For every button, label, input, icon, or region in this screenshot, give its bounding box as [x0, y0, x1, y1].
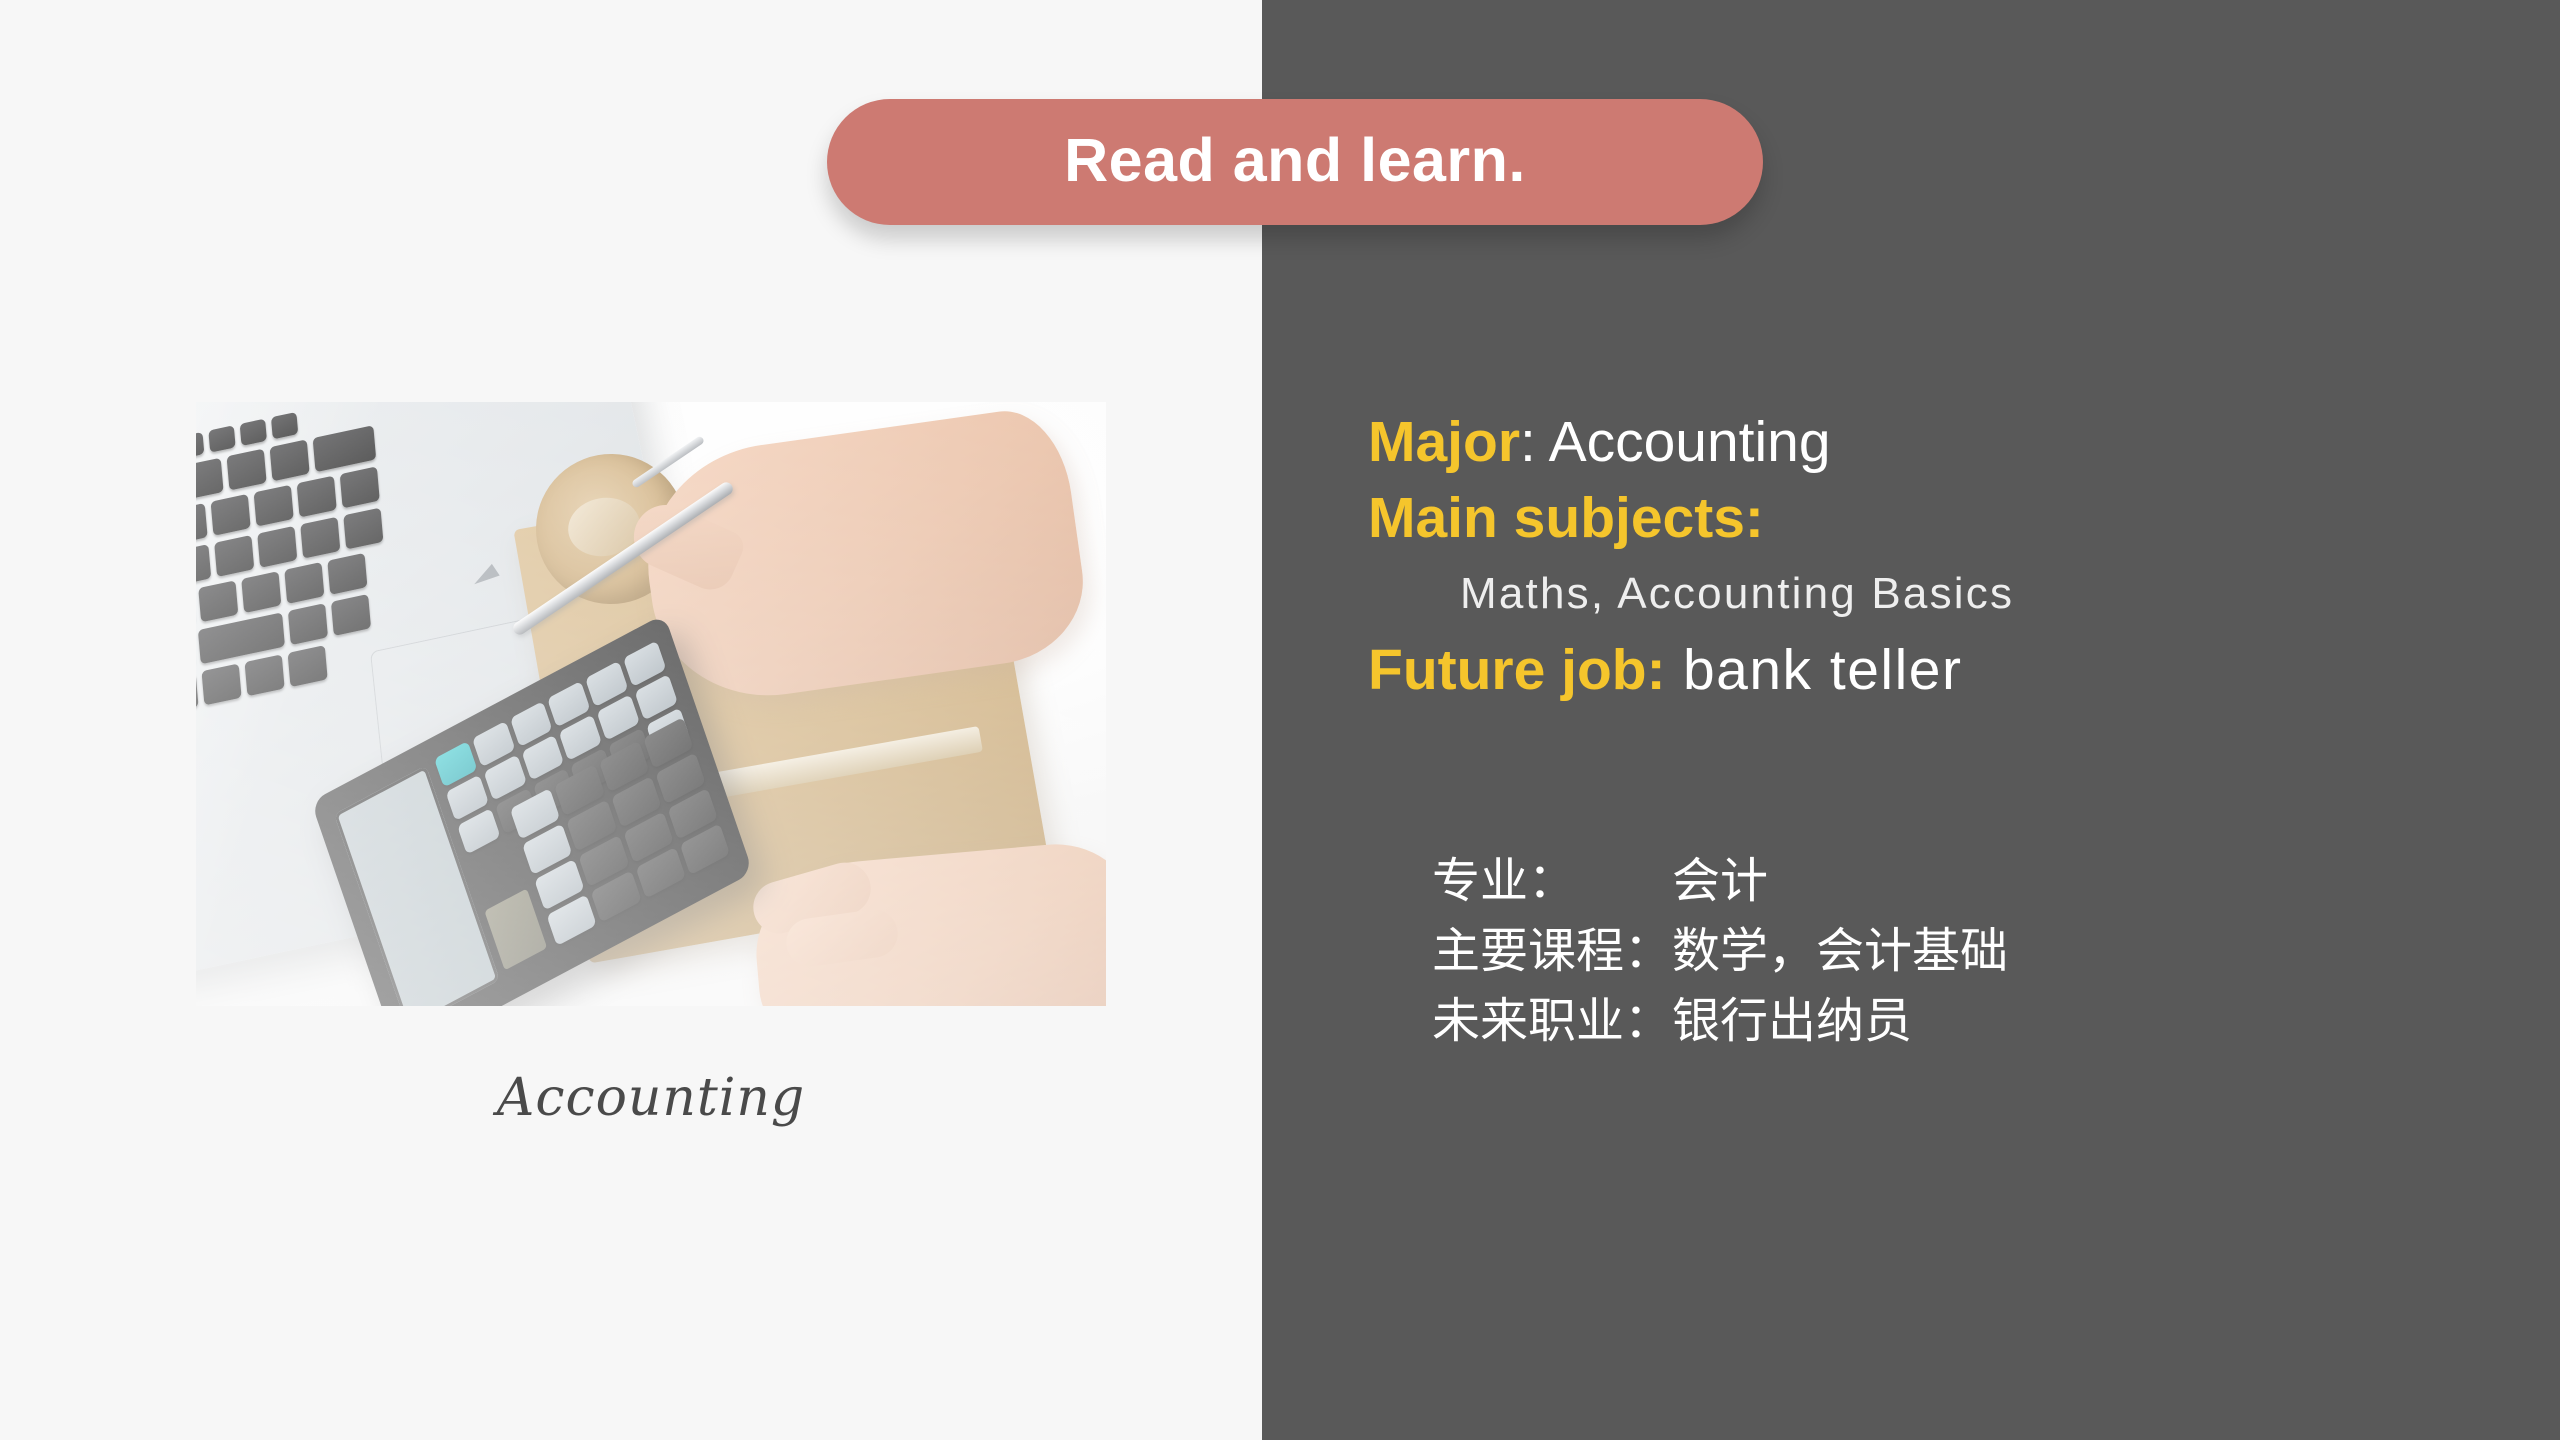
- slide-title: Read and learn.: [1064, 130, 1526, 195]
- zh-job-value: 银行出纳员: [1672, 993, 1912, 1049]
- title-banner: Read and learn.: [827, 99, 1763, 225]
- major-line: Major: Accounting: [1368, 404, 2488, 480]
- job-label: Future job:: [1368, 638, 1666, 702]
- zh-job-label: 未来职业：: [1432, 986, 1672, 1056]
- major-value: Accounting: [1549, 410, 1831, 474]
- zh-subjects-label: 主要课程：: [1432, 916, 1672, 986]
- subjects-value: Maths, Accounting Basics: [1460, 569, 2014, 618]
- english-info-block: Major: Accounting Main subjects: Maths, …: [1368, 404, 2488, 708]
- zh-major-line: 专业：会计: [1432, 846, 2482, 916]
- zh-subjects-line: 主要课程：数学，会计基础: [1432, 916, 2482, 986]
- subjects-value-line: Maths, Accounting Basics: [1368, 556, 2488, 632]
- major-label: Major: [1368, 410, 1520, 474]
- photo-caption: Accounting: [196, 1068, 1106, 1128]
- photo-accounting: [196, 402, 1106, 1006]
- zh-major-label: 专业：: [1432, 846, 1576, 916]
- major-separator: :: [1520, 410, 1549, 474]
- zh-subjects-value: 数学，会计基础: [1672, 923, 2008, 979]
- photo-canvas: [196, 402, 1106, 1006]
- job-value: bank teller: [1666, 638, 1963, 702]
- zh-major-value: 会计: [1672, 853, 1768, 909]
- subjects-line: Main subjects:: [1368, 480, 2488, 556]
- subjects-label: Main subjects:: [1368, 486, 1764, 550]
- slide: Read and learn.: [0, 0, 2560, 1440]
- chinese-info-block: 专业：会计 主要课程：数学，会计基础 未来职业：银行出纳员: [1432, 846, 2482, 1056]
- zh-job-line: 未来职业：银行出纳员: [1432, 986, 2482, 1056]
- job-line: Future job: bank teller: [1368, 632, 2488, 708]
